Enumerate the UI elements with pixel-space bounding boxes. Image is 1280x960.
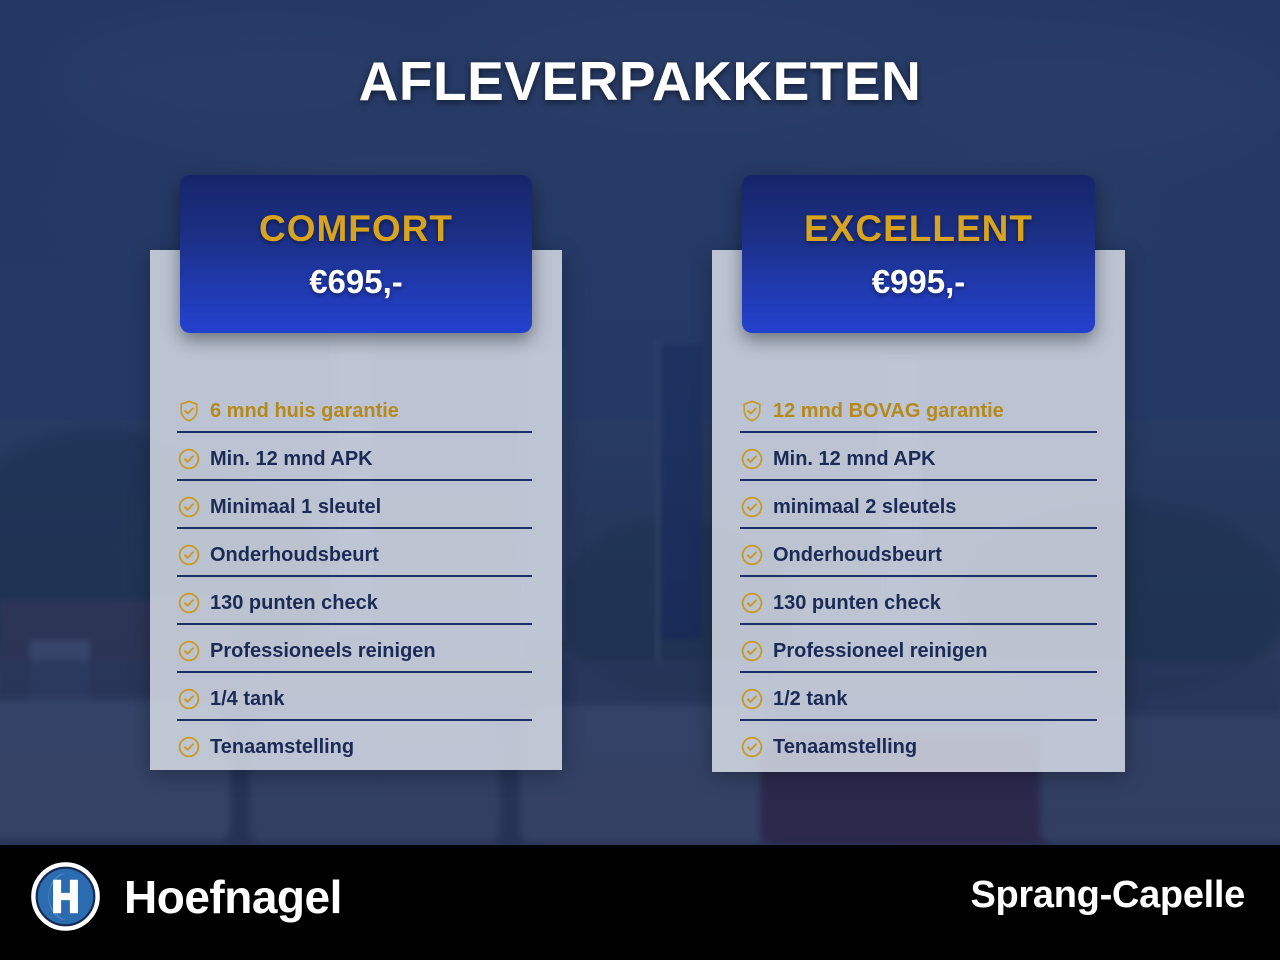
feature-label: Tenaamstelling <box>210 737 354 757</box>
feature-row: 130 punten check <box>740 577 1097 625</box>
feature-label: Min. 12 mnd APK <box>210 449 373 469</box>
package-price: €695,- <box>309 265 403 298</box>
feature-label: 130 punten check <box>210 593 378 613</box>
feature-row: Minimaal 1 sleutel <box>177 481 532 529</box>
feature-row: 6 mnd huis garantie <box>177 385 532 433</box>
feature-row: Min. 12 mnd APK <box>740 433 1097 481</box>
circle-check-icon <box>740 687 764 711</box>
package-price: €995,- <box>872 265 966 298</box>
feature-row: 12 mnd BOVAG garantie <box>740 385 1097 433</box>
feature-label: Min. 12 mnd APK <box>773 449 936 469</box>
card-header-excellent: EXCELLENT €995,- <box>742 175 1095 333</box>
feature-row: 1/2 tank <box>740 673 1097 721</box>
footer-location: Sprang-Capelle <box>970 876 1245 914</box>
feature-label: minimaal 2 sleutels <box>773 497 956 517</box>
package-name: COMFORT <box>259 210 453 247</box>
circle-check-icon <box>740 447 764 471</box>
feature-row: Tenaamstelling <box>740 721 1097 767</box>
feature-list-excellent: 12 mnd BOVAG garantie Min. 12 mnd APK mi… <box>740 385 1097 767</box>
circle-check-icon <box>740 735 764 759</box>
feature-row: minimaal 2 sleutels <box>740 481 1097 529</box>
feature-label: 6 mnd huis garantie <box>210 401 399 421</box>
feature-row: Professioneels reinigen <box>177 625 532 673</box>
circle-check-icon <box>740 543 764 567</box>
circle-check-icon <box>177 639 201 663</box>
feature-row: 1/4 tank <box>177 673 532 721</box>
feature-list-comfort: 6 mnd huis garantie Min. 12 mnd APK Mini… <box>177 385 532 767</box>
circle-check-icon <box>740 495 764 519</box>
page-title: AFLEVERPAKKETEN <box>0 49 1280 113</box>
feature-label: 12 mnd BOVAG garantie <box>773 401 1004 421</box>
feature-label: Onderhoudsbeurt <box>210 545 379 565</box>
shield-check-icon <box>177 399 201 423</box>
circle-check-icon <box>740 591 764 615</box>
card-header-comfort: COMFORT €695,- <box>180 175 532 333</box>
feature-label: Professioneel reinigen <box>773 641 988 661</box>
feature-label: 1/4 tank <box>210 689 284 709</box>
feature-label: Onderhoudsbeurt <box>773 545 942 565</box>
circle-check-icon <box>177 735 201 759</box>
circle-check-icon <box>177 495 201 519</box>
feature-label: 1/2 tank <box>773 689 847 709</box>
brand-name: Hoefnagel <box>124 874 342 920</box>
shield-check-icon <box>740 399 764 423</box>
promo-slide: AFLEVERPAKKETEN COMFORT €695,- 6 mnd hui… <box>0 0 1280 960</box>
circle-check-icon <box>177 687 201 711</box>
circle-check-icon <box>177 447 201 471</box>
feature-label: Minimaal 1 sleutel <box>210 497 381 517</box>
feature-row: Onderhoudsbeurt <box>740 529 1097 577</box>
footer-brand[interactable]: Hoefnagel <box>29 860 342 933</box>
circle-check-icon <box>740 639 764 663</box>
feature-label: Professioneels reinigen <box>210 641 436 661</box>
feature-row: Tenaamstelling <box>177 721 532 767</box>
feature-row: 130 punten check <box>177 577 532 625</box>
feature-row: Professioneel reinigen <box>740 625 1097 673</box>
package-name: EXCELLENT <box>804 210 1033 247</box>
feature-row: Onderhoudsbeurt <box>177 529 532 577</box>
feature-label: 130 punten check <box>773 593 941 613</box>
hoefnagel-h-logo-icon <box>29 860 102 933</box>
circle-check-icon <box>177 543 201 567</box>
feature-label: Tenaamstelling <box>773 737 917 757</box>
feature-row: Min. 12 mnd APK <box>177 433 532 481</box>
circle-check-icon <box>177 591 201 615</box>
